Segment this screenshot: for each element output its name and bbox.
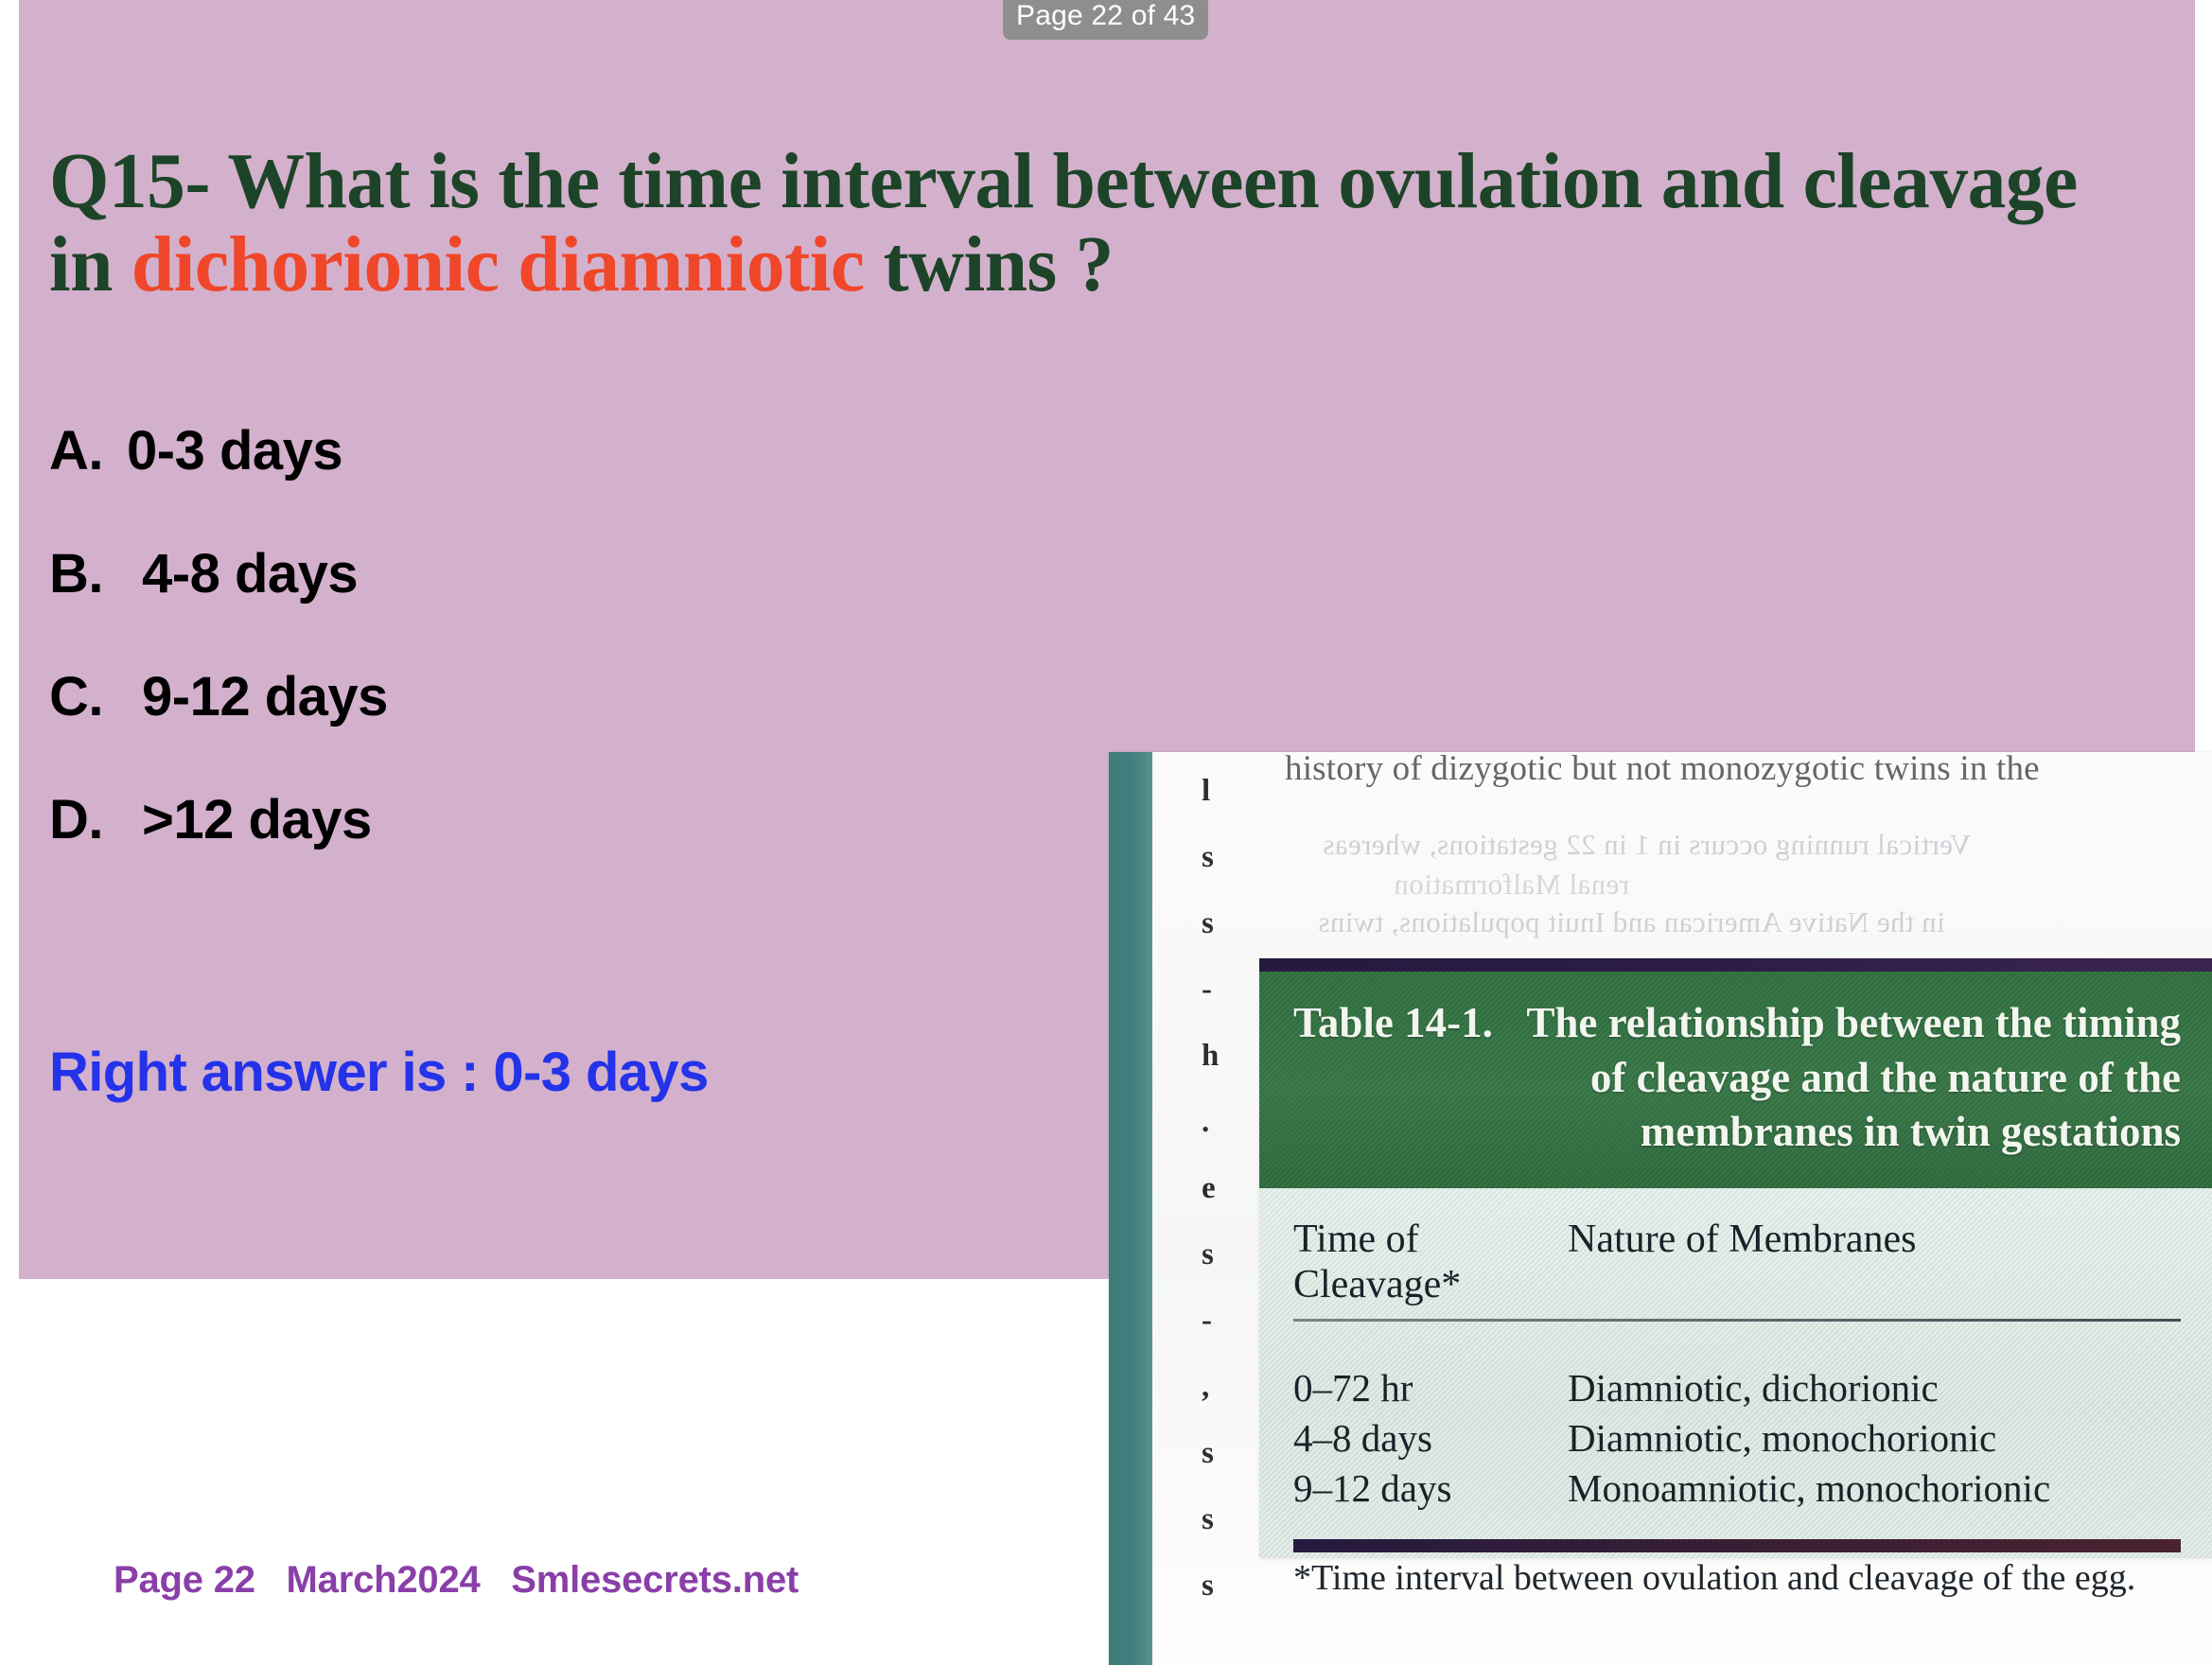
- photo-edge-letter: s: [1202, 1221, 1239, 1288]
- table-cell-time: 9–12 days: [1293, 1463, 1568, 1514]
- photo-edge-letter: -: [1202, 956, 1239, 1023]
- option-d[interactable]: D.>12 days: [49, 788, 372, 851]
- question-highlight: dichorionic diamniotic: [132, 220, 865, 308]
- table-body: Time of Cleavage* Nature of Membranes 0–…: [1259, 1188, 2212, 1558]
- photo-edge-letter: .: [1202, 1089, 1239, 1155]
- photo-teal-edge-band: [1109, 752, 1152, 1665]
- table-cell-nature: Diamniotic, dichorionic: [1568, 1363, 2181, 1413]
- option-d-letter: D.: [49, 788, 142, 851]
- table-caption-block: Table 14-1. The relationship between the…: [1259, 972, 2212, 1188]
- right-answer-text: Right answer is : 0-3 days: [49, 1041, 709, 1104]
- table-caption-line-1: The relationship between the timing: [1526, 999, 2181, 1046]
- table-caption-text: Table 14-1. The relationship between the…: [1293, 996, 2181, 1160]
- option-c[interactable]: C.9-12 days: [49, 665, 388, 728]
- table-header-row: Time of Cleavage* Nature of Membranes: [1293, 1217, 2181, 1319]
- table-top-rule: [1259, 958, 2212, 972]
- option-a-letter: A.: [49, 419, 127, 482]
- option-b[interactable]: B.4-8 days: [49, 542, 358, 605]
- photo-edge-letter: s: [1202, 1486, 1239, 1552]
- option-a[interactable]: A.0-3 days: [49, 419, 342, 482]
- photo-edge-letter: -: [1202, 1288, 1239, 1354]
- photo-edge-letter: s: [1202, 824, 1239, 890]
- table-cell-time: 4–8 days: [1293, 1413, 1568, 1463]
- page-indicator-badge: Page 22 of 43: [1003, 0, 1208, 40]
- photo-edge-letter-column: lss-h.es-,sss: [1202, 758, 1239, 1619]
- table-cell-nature: Diamniotic, monochorionic: [1568, 1413, 2181, 1463]
- table-row: 9–12 days Monoamniotic, monochorionic: [1293, 1463, 2181, 1514]
- photo-ghost-line-3: in the Native American and Inuit populat…: [1318, 905, 1945, 939]
- option-b-letter: B.: [49, 542, 142, 605]
- table-row: 0–72 hr Diamniotic, dichorionic: [1293, 1363, 2181, 1413]
- table-cell-nature: Monoamniotic, monochorionic: [1568, 1463, 2181, 1514]
- photo-book-page: history of dizygotic but not monozygotic…: [1152, 752, 2212, 1665]
- option-a-text: 0-3 days: [127, 420, 342, 482]
- table-column-header-nature: Nature of Membranes: [1568, 1217, 2181, 1307]
- question-suffix: twins ?: [865, 220, 1114, 308]
- textbook-photo: history of dizygotic but not monozygotic…: [1109, 752, 2212, 1665]
- table-number: Table 14-1.: [1293, 996, 1493, 1051]
- photo-edge-letter: l: [1202, 758, 1239, 824]
- photo-edge-letter: s: [1202, 890, 1239, 956]
- question-text: Q15- What is the time interval between o…: [49, 140, 2146, 307]
- option-c-text: 9-12 days: [142, 666, 388, 727]
- option-c-letter: C.: [49, 665, 142, 728]
- book-table: Table 14-1. The relationship between the…: [1259, 958, 2212, 1558]
- photo-edge-letter: h: [1202, 1023, 1239, 1089]
- photo-ghost-line-2: renal Malformation: [1394, 868, 1629, 902]
- option-d-text: >12 days: [142, 789, 372, 850]
- table-header-rule: [1293, 1319, 2181, 1322]
- table-row: 4–8 days Diamniotic, monochorionic: [1293, 1413, 2181, 1463]
- photo-edge-letter: e: [1202, 1155, 1239, 1221]
- table-caption-line-2: of cleavage and the nature of the: [1590, 1054, 2181, 1101]
- photo-top-line-text: history of dizygotic but not monozygotic…: [1285, 752, 2040, 789]
- table-caption-line-3: membranes in twin gestations: [1641, 1108, 2181, 1155]
- photo-edge-letter: ,: [1202, 1354, 1239, 1420]
- slide-footer: Page 22 March2024 Smlesecrets.net: [114, 1559, 799, 1602]
- table-cell-time: 0–72 hr: [1293, 1363, 1568, 1413]
- photo-ghost-line-1: Vertical running occurs in 1 in 22 gesta…: [1323, 828, 1971, 862]
- table-footnote: *Time interval between ovulation and cle…: [1259, 1533, 2212, 1599]
- photo-edge-letter: s: [1202, 1420, 1239, 1486]
- table-footnote-wrapper: *Time interval between ovulation and cle…: [1259, 1533, 2212, 1599]
- table-column-header-time: Time of Cleavage*: [1293, 1217, 1568, 1307]
- option-b-text: 4-8 days: [142, 543, 358, 605]
- photo-edge-letter: s: [1202, 1552, 1239, 1619]
